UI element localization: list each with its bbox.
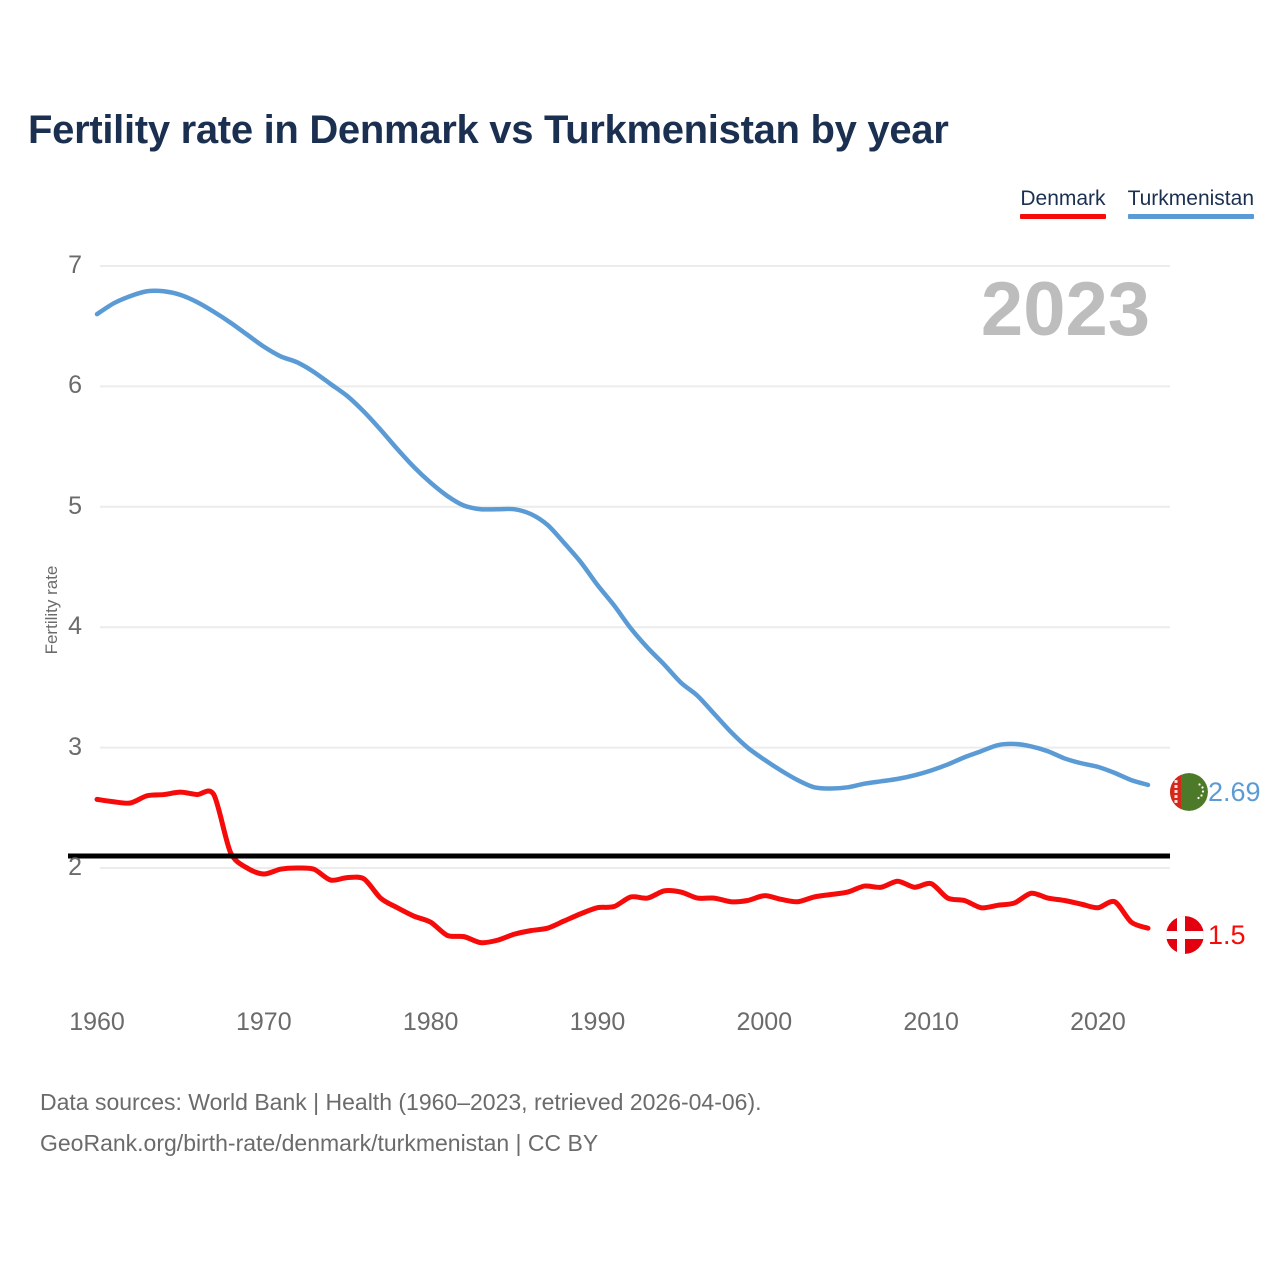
x-tick-2020: 2020 xyxy=(1038,1010,1158,1035)
endpoint-value-denmark: 1.5 xyxy=(1208,922,1246,949)
y-tick-5: 5 xyxy=(42,494,82,519)
series-lines xyxy=(97,291,1148,943)
gridlines xyxy=(100,266,1170,868)
chart-page: Fertility rate in Denmark vs Turkmenista… xyxy=(0,0,1280,1280)
x-tick-1970: 1970 xyxy=(204,1010,324,1035)
footer: Data sources: World Bank | Health (1960–… xyxy=(40,1082,762,1164)
y-tick-7: 7 xyxy=(42,253,82,278)
denmark-flag-icon xyxy=(1166,916,1204,954)
y-tick-2: 2 xyxy=(42,855,82,880)
x-tick-2010: 2010 xyxy=(871,1010,991,1035)
x-tick-2000: 2000 xyxy=(704,1010,824,1035)
footer-attribution: GeoRank.org/birth-rate/denmark/turkmenis… xyxy=(40,1123,762,1164)
endpoint-value-turkmenistan: 2.69 xyxy=(1208,779,1261,806)
footer-data-sources: Data sources: World Bank | Health (1960–… xyxy=(40,1082,762,1123)
series-line-turkmenistan xyxy=(97,291,1148,789)
x-tick-1980: 1980 xyxy=(371,1010,491,1035)
y-tick-6: 6 xyxy=(42,373,82,398)
series-line-denmark xyxy=(97,791,1148,943)
x-tick-1960: 1960 xyxy=(37,1010,157,1035)
y-axis-label: Fertility rate xyxy=(42,530,62,690)
y-tick-3: 3 xyxy=(42,735,82,760)
x-tick-1990: 1990 xyxy=(537,1010,657,1035)
turkmenistan-flag-icon xyxy=(1170,773,1208,811)
